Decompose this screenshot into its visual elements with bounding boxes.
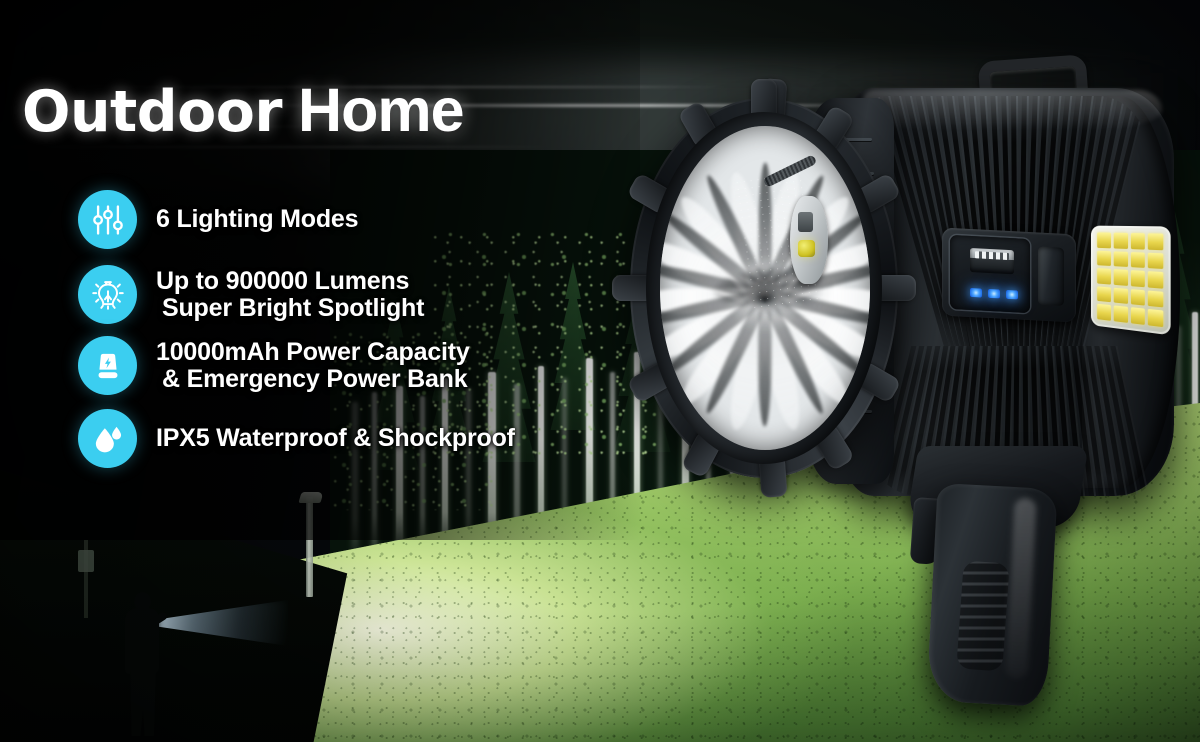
page-title: OutdoorHome bbox=[22, 80, 464, 141]
feature-text: 10000mAh Power Capacity & Emergency Powe… bbox=[156, 339, 470, 393]
power-bank-icon bbox=[78, 336, 137, 395]
led-phosphor-chip bbox=[798, 240, 815, 257]
cob-led-cell bbox=[1130, 252, 1145, 268]
cob-led-cell bbox=[1148, 271, 1163, 288]
water-drop-icon bbox=[78, 409, 137, 468]
feature-line-1: 6 Lighting Modes bbox=[156, 205, 358, 233]
cob-led-cell bbox=[1130, 308, 1145, 325]
side-cob-led-panel[interactable] bbox=[1091, 226, 1171, 336]
usb-control-panel[interactable] bbox=[942, 227, 1076, 322]
feature-line-1: Up to 900000 Lumens bbox=[156, 267, 409, 295]
feature-text: Up to 900000 Lumens Super Bright Spotlig… bbox=[156, 268, 424, 322]
cob-led-cell bbox=[1148, 290, 1163, 307]
cob-led-cell bbox=[1097, 232, 1111, 248]
cob-led-cell bbox=[1148, 309, 1163, 327]
feature-text: 6 Lighting Modes bbox=[156, 206, 358, 233]
cob-led-cell bbox=[1130, 270, 1145, 287]
cob-led-cell bbox=[1114, 306, 1128, 323]
barrel-highlight bbox=[862, 90, 1162, 130]
cob-led-cell bbox=[1148, 252, 1163, 269]
feature-item-lighting-modes: 6 Lighting Modes bbox=[78, 190, 698, 249]
person-silhouette bbox=[118, 592, 170, 742]
light-streak bbox=[0, 146, 560, 148]
feature-item-power-bank: 10000mAh Power Capacity & Emergency Powe… bbox=[78, 336, 698, 395]
cob-led-grid bbox=[1097, 232, 1163, 327]
grip-finger-grooves bbox=[956, 561, 1009, 672]
feature-line-2: & Emergency Power Bank bbox=[156, 366, 470, 393]
cob-led-cell bbox=[1148, 233, 1163, 249]
feature-line-2: Super Bright Spotlight bbox=[156, 295, 424, 322]
feature-line-1: 10000mAh Power Capacity bbox=[156, 338, 470, 366]
cob-led-cell bbox=[1097, 250, 1111, 266]
title-word-outdoor: Outdoor bbox=[22, 79, 282, 145]
battery-indicator-leds bbox=[966, 284, 1022, 303]
feature-line-1: IPX5 Waterproof & Shockproof bbox=[156, 424, 515, 452]
cob-led-cell bbox=[1114, 269, 1128, 285]
person-legs bbox=[130, 670, 156, 736]
battery-led bbox=[988, 288, 1000, 298]
lamp-post-head bbox=[298, 492, 323, 503]
product-marketing-image: OutdoorHome 6 Lighting Modes bbox=[0, 0, 1200, 742]
product-flashlight bbox=[612, 46, 1200, 742]
battery-led bbox=[1006, 289, 1018, 299]
emitter-contact bbox=[798, 212, 813, 232]
feature-text: IPX5 Waterproof & Shockproof bbox=[156, 425, 515, 452]
cob-led-cell bbox=[1097, 286, 1111, 302]
cob-led-cell bbox=[1097, 268, 1111, 284]
background-post-box bbox=[78, 550, 94, 572]
panel-recess bbox=[950, 235, 1030, 313]
lightbulb-icon bbox=[78, 265, 137, 324]
battery-led bbox=[970, 287, 982, 297]
cob-led-cell bbox=[1130, 289, 1145, 306]
lamp-post bbox=[306, 497, 313, 597]
cob-led-cell bbox=[1097, 304, 1111, 321]
title-word-home: Home bbox=[298, 76, 463, 144]
cob-led-cell bbox=[1114, 233, 1128, 249]
feature-item-lumens: Up to 900000 Lumens Super Bright Spotlig… bbox=[78, 265, 698, 324]
feature-item-waterproof: IPX5 Waterproof & Shockproof bbox=[78, 409, 698, 468]
sliders-icon bbox=[78, 190, 137, 249]
feature-list: 6 Lighting Modes bbox=[78, 190, 698, 477]
cob-led-cell bbox=[1114, 288, 1128, 305]
panel-side-slot bbox=[1038, 247, 1064, 306]
cob-led-cell bbox=[1130, 233, 1145, 249]
cob-led-cell bbox=[1114, 251, 1128, 267]
